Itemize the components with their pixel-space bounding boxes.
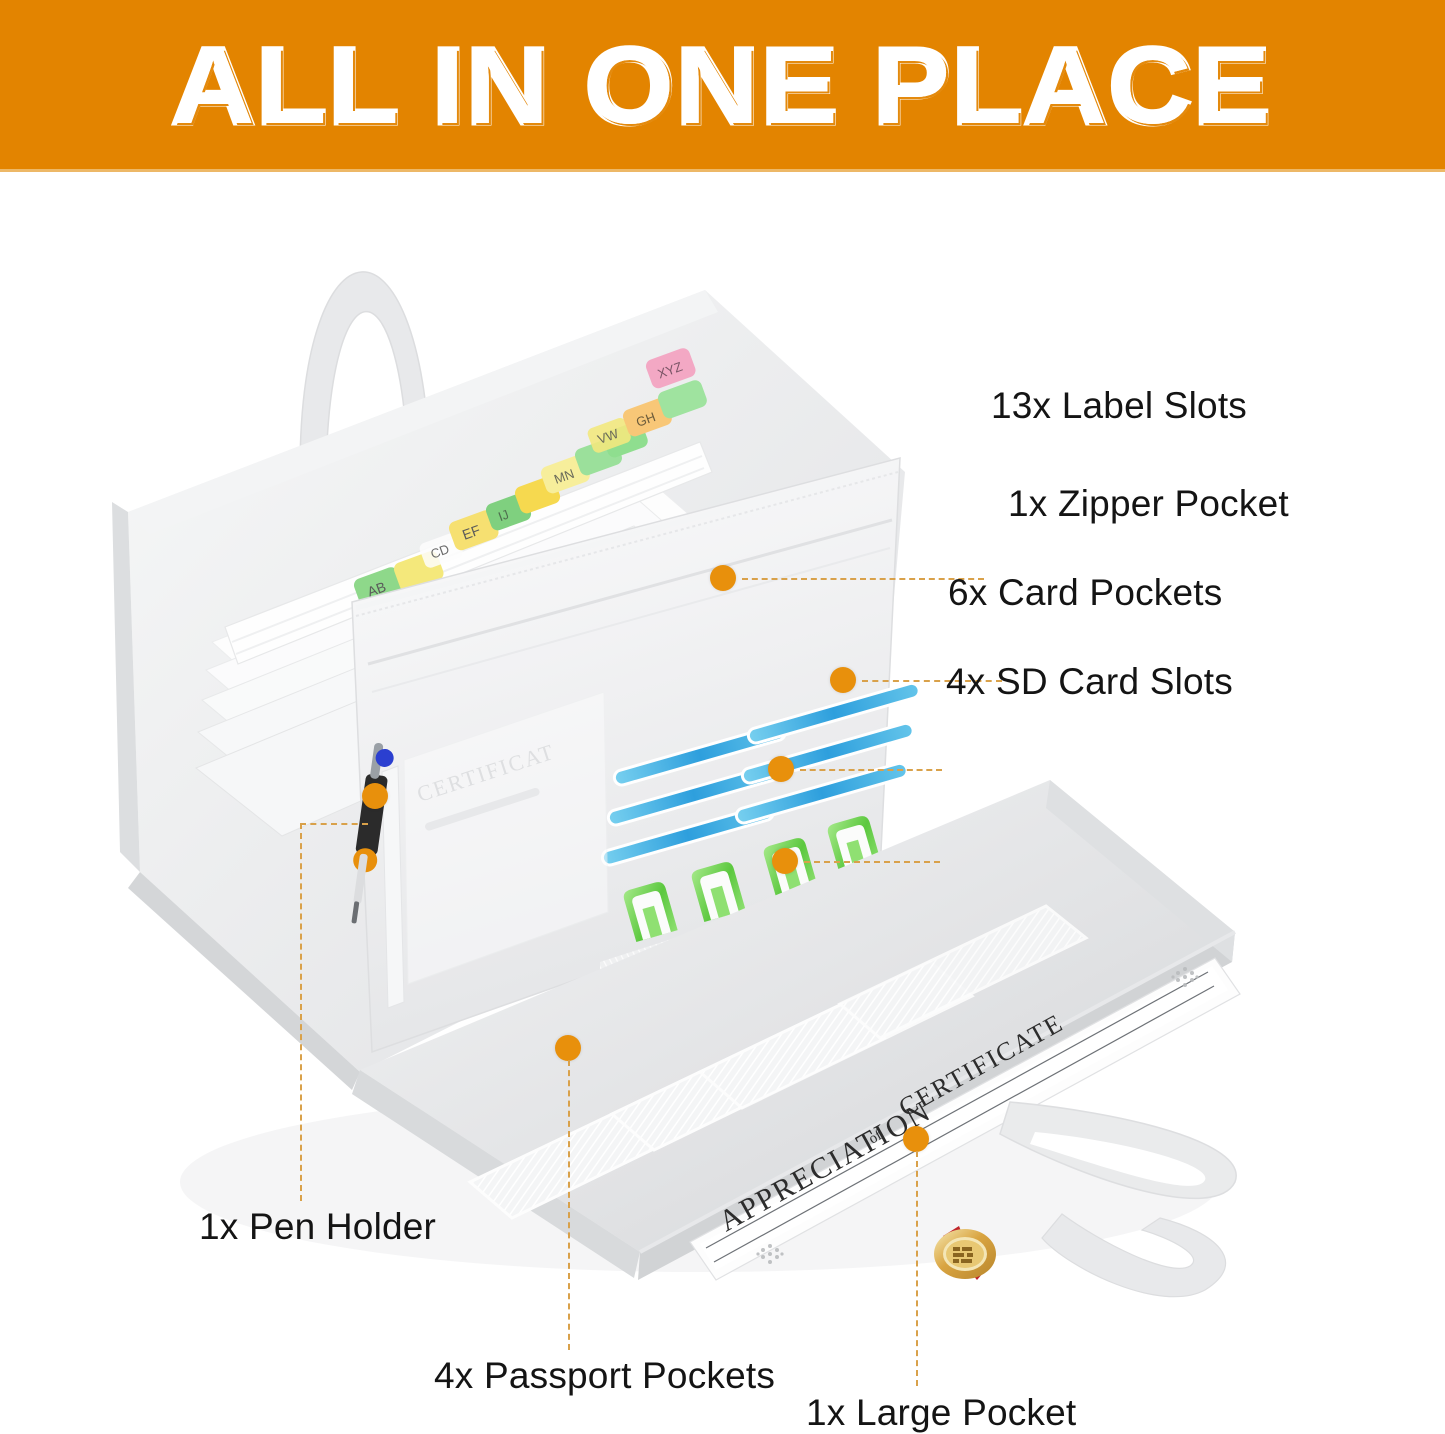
callout-line-pen-holder-h — [300, 823, 368, 825]
header-banner: ALL IN ONE PLACE — [0, 0, 1445, 172]
callout-line-large-pocket — [916, 1151, 918, 1386]
callout-label-passport-pockets: 4x Passport Pockets — [434, 1355, 775, 1397]
page-title: ALL IN ONE PLACE — [172, 32, 1272, 140]
callout-dot-pen-holder — [362, 783, 388, 809]
callout-label-zipper-pocket: 1x Zipper Pocket — [1008, 483, 1289, 525]
callout-dot-label-slots — [710, 565, 736, 591]
callout-dot-sd-card-slots — [772, 848, 798, 874]
callout-label-pen-holder: 1x Pen Holder — [199, 1206, 436, 1248]
callout-line-passport-pockets — [568, 1060, 570, 1350]
callout-label-large-pocket: 1x Large Pocket — [806, 1392, 1076, 1434]
callout-dot-large-pocket — [903, 1126, 929, 1152]
callout-label-sd-card-slots: 4x SD Card Slots — [946, 661, 1233, 703]
callout-line-sd-card-slots — [804, 861, 940, 863]
callout-dot-card-pockets — [768, 756, 794, 782]
callout-dot-passport-pockets — [555, 1035, 581, 1061]
callout-label-card-pockets: 6x Card Pockets — [948, 572, 1222, 614]
callout-dot-zipper-pocket — [830, 667, 856, 693]
callout-label-label-slots: 13x Label Slots — [991, 385, 1247, 427]
callout-line-card-pockets — [800, 769, 942, 771]
callout-line-pen-holder-v — [300, 823, 302, 1201]
